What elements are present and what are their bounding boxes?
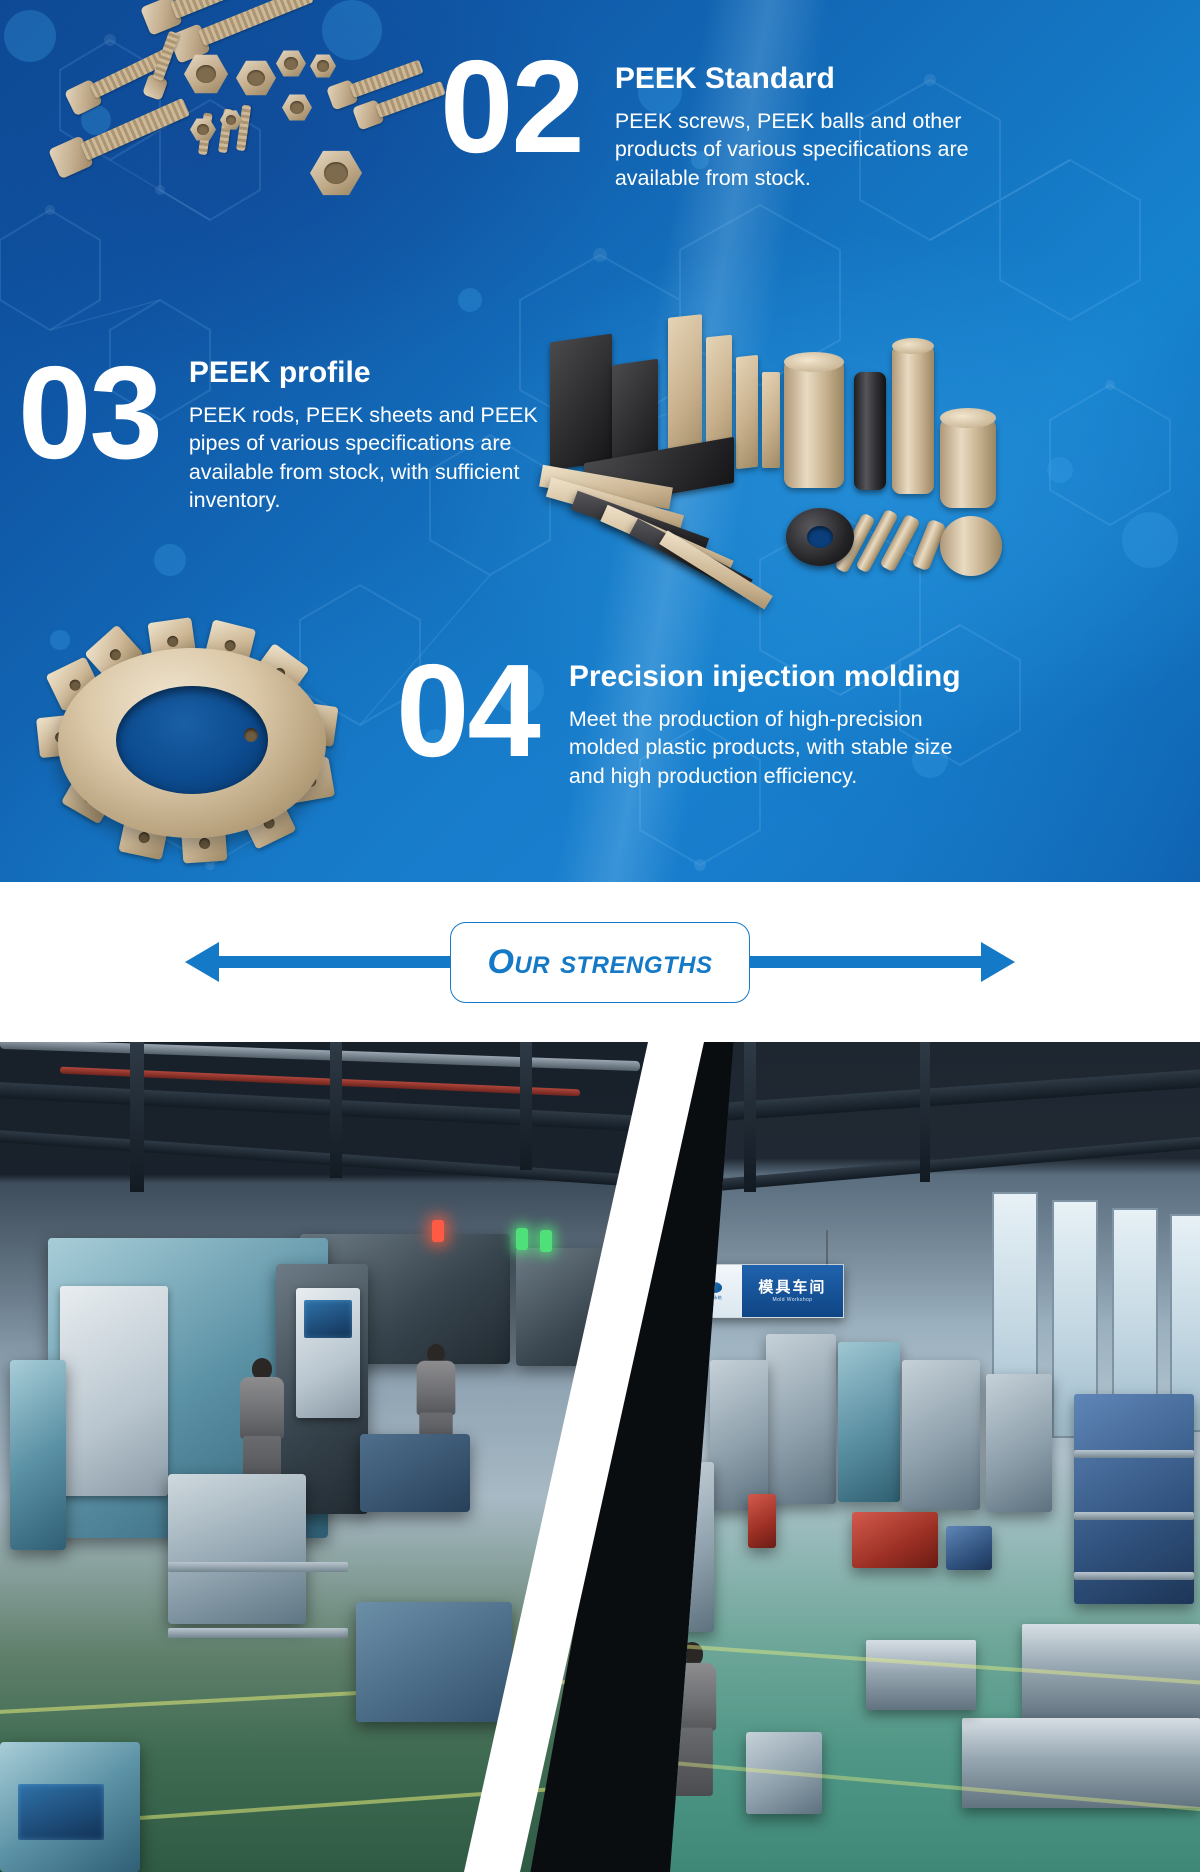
feature-title-02: PEEK Standard bbox=[615, 62, 1007, 97]
double-headed-arrow: Our strengths bbox=[185, 932, 1015, 992]
sign-logo: 南京永皓 bbox=[685, 1265, 742, 1317]
feature-description-04: Meet the production of high-precision mo… bbox=[569, 705, 989, 791]
strengths-label-box: Our strengths bbox=[450, 922, 750, 1003]
feature-block-02: 02 PEEK Standard PEEK screws, PEEK balls… bbox=[440, 46, 1007, 192]
sign-text-chinese: 模具车间 bbox=[758, 1280, 826, 1295]
factory-photo-strip: 南京永皓 模具车间 Mold Workshop bbox=[0, 1042, 1200, 1872]
mold-workshop-sign: 南京永皓 模具车间 Mold Workshop bbox=[684, 1264, 844, 1318]
feature-number-03: 03 bbox=[18, 352, 161, 473]
mold-workshop-photo: 南京永皓 模具车间 Mold Workshop bbox=[670, 1042, 1200, 1872]
hero-section: 02 PEEK Standard PEEK screws, PEEK balls… bbox=[0, 0, 1200, 882]
feature-block-04: 04 Precision injection molding Meet the … bbox=[396, 650, 989, 790]
peek-molded-gear-ring-photo bbox=[30, 620, 360, 870]
strengths-label: Our strengths bbox=[487, 943, 712, 981]
arrow-left-icon bbox=[185, 942, 219, 982]
arrow-right-icon bbox=[981, 942, 1015, 982]
sign-text-english: Mold Workshop bbox=[773, 1297, 813, 1303]
peek-screws-nuts-bolts-photo bbox=[30, 0, 450, 270]
feature-block-03: 03 PEEK profile PEEK rods, PEEK sheets a… bbox=[18, 352, 559, 515]
feature-title-03: PEEK profile bbox=[189, 356, 559, 391]
peek-rods-sheets-pipes-photo bbox=[540, 300, 1010, 600]
our-strengths-divider: Our strengths bbox=[0, 882, 1200, 1042]
sign-logo-text: 南京永皓 bbox=[705, 1295, 722, 1301]
company-logo-mark bbox=[705, 1282, 722, 1293]
feature-number-04: 04 bbox=[396, 650, 539, 771]
feature-number-02: 02 bbox=[440, 46, 583, 167]
feature-title-04: Precision injection molding bbox=[569, 660, 989, 695]
feature-description-02: PEEK screws, PEEK balls and other produc… bbox=[615, 107, 1007, 193]
feature-description-03: PEEK rods, PEEK sheets and PEEK pipes of… bbox=[189, 401, 559, 515]
